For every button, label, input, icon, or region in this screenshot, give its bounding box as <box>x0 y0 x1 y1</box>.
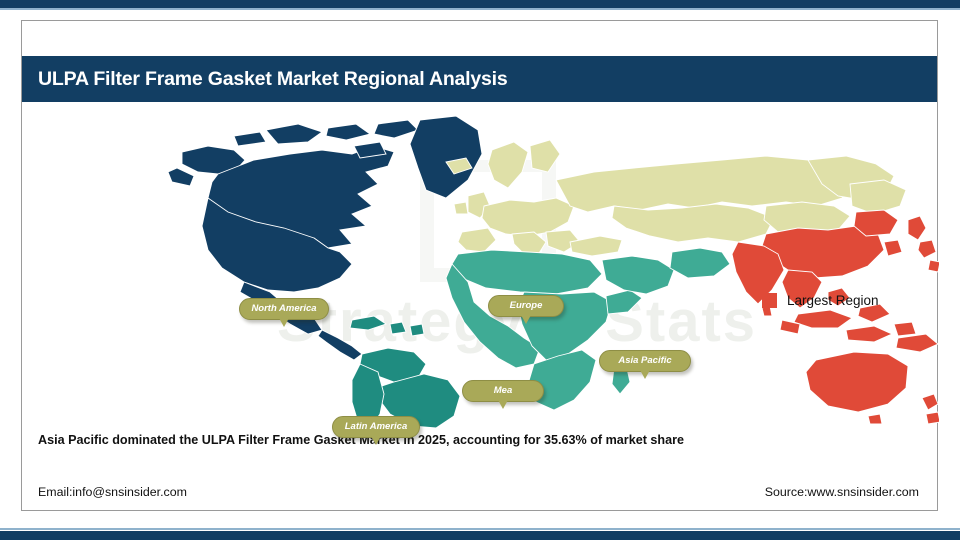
footer: Email:info@snsinsider.com Source:www.sns… <box>22 485 937 499</box>
legend-swatch-largest-region <box>762 293 777 308</box>
map-label-latin-america[interactable]: Latin America <box>332 416 420 438</box>
map-label-asia-pacific[interactable]: Asia Pacific <box>599 350 691 372</box>
map-label-europe[interactable]: Europe <box>488 295 564 317</box>
map-region-latin-america[interactable] <box>350 316 460 431</box>
map-stage: Strategy & Stats <box>22 102 937 431</box>
bottom-accent-bar <box>0 531 960 540</box>
slide-card: ULPA Filter Frame Gasket Market Regional… <box>21 20 938 511</box>
footer-email[interactable]: Email:info@snsinsider.com <box>38 485 187 499</box>
page-title: ULPA Filter Frame Gasket Market Regional… <box>38 68 508 91</box>
legend: Largest Region <box>762 293 879 308</box>
map-label-mea[interactable]: Mea <box>462 380 544 402</box>
map-region-asia-pacific[interactable] <box>732 210 939 424</box>
footer-source[interactable]: Source:www.snsinsider.com <box>765 485 919 499</box>
legend-label-largest-region: Largest Region <box>787 293 879 308</box>
map-label-north-america[interactable]: North America <box>239 298 329 320</box>
bottom-accent-rule <box>0 528 960 530</box>
title-bar: ULPA Filter Frame Gasket Market Regional… <box>22 56 937 102</box>
top-accent-bar <box>0 0 960 8</box>
top-accent-rule <box>0 8 960 10</box>
map-region-north-america[interactable] <box>168 116 482 360</box>
